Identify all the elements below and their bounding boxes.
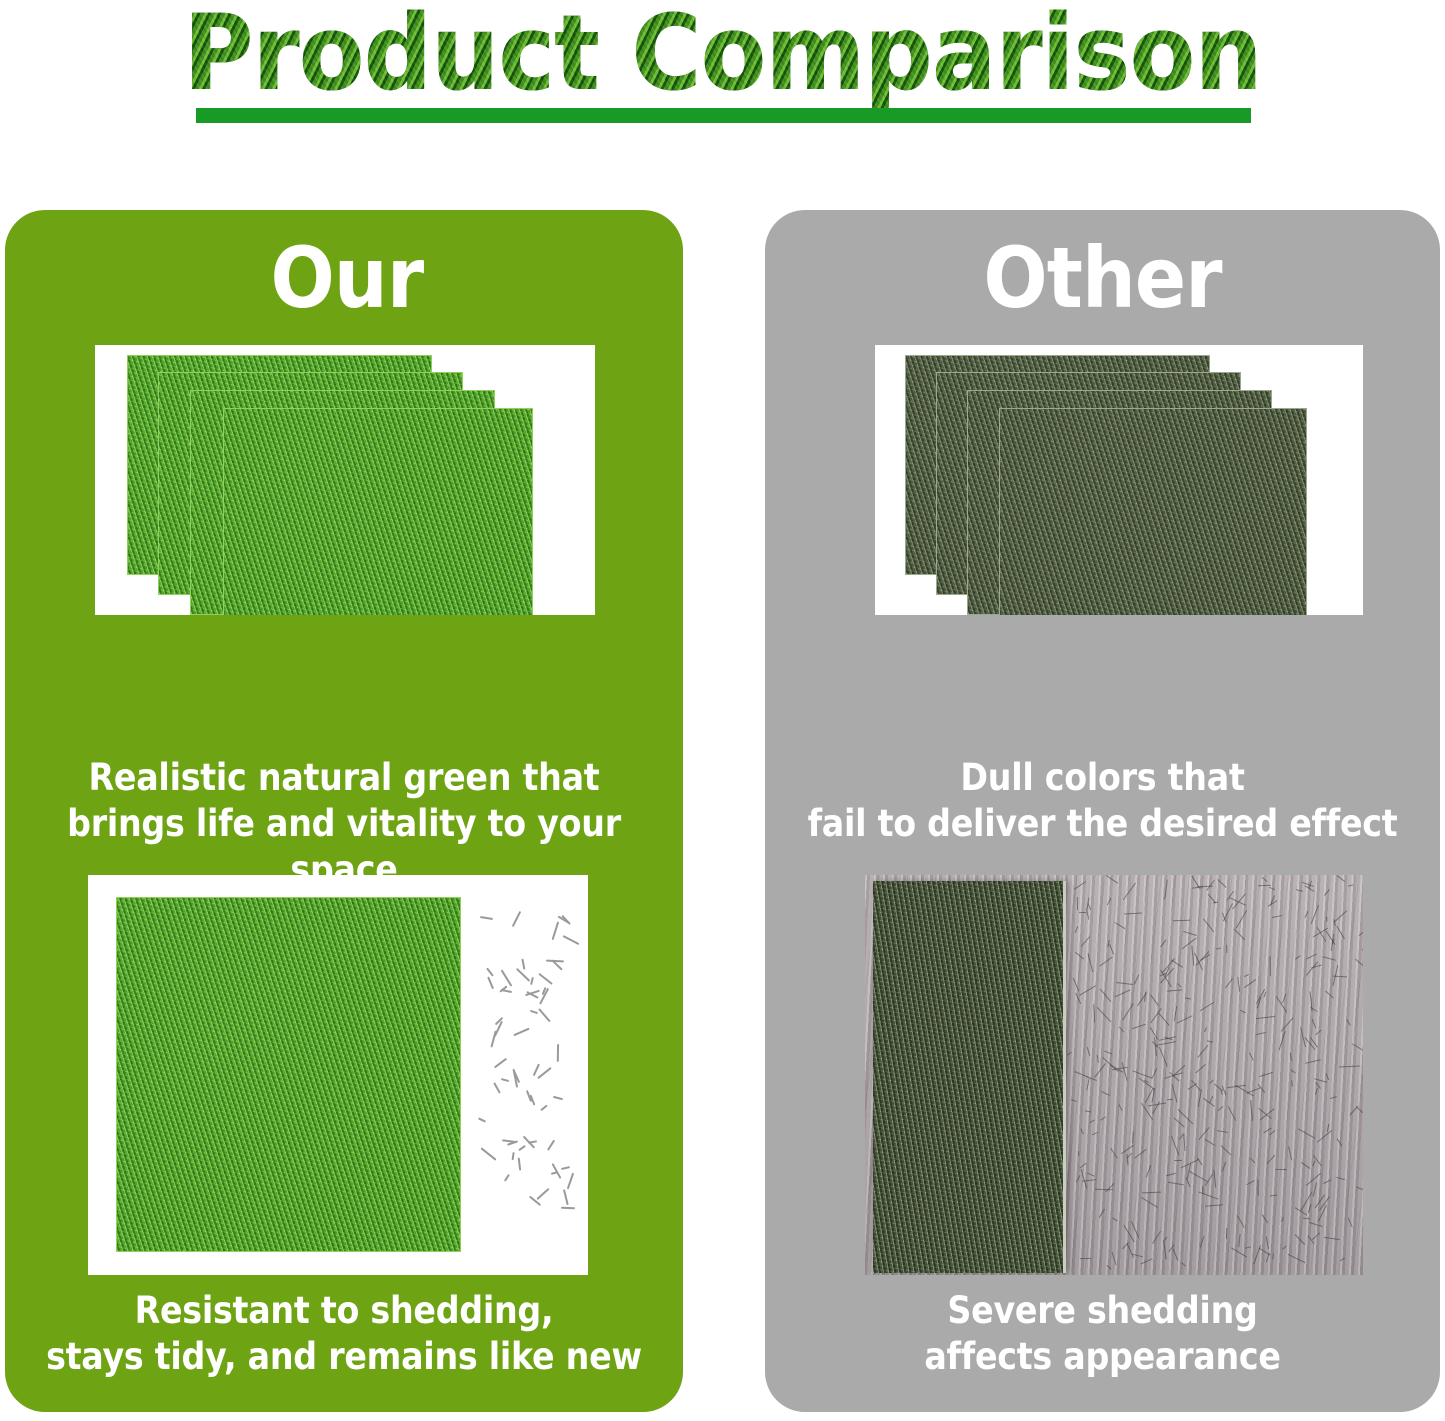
shed-fibre: [1173, 919, 1190, 921]
shed-fibre: [1113, 1217, 1118, 1221]
shed-fibre: [1200, 1236, 1205, 1248]
shed-fibre: [1270, 1194, 1277, 1196]
shed-fibre: [1326, 1073, 1329, 1080]
shed-fibre: [1132, 1070, 1152, 1078]
shed-fibre: [1282, 993, 1286, 1003]
shed-fibre: [1270, 956, 1271, 976]
shed-fibre: [1099, 956, 1113, 966]
shed-fibre: [1244, 974, 1249, 977]
shed-fibre: [1235, 910, 1246, 928]
shed-fibre: [1173, 1248, 1179, 1260]
shed-fibre: [1085, 1111, 1091, 1113]
grass-mat-single: [116, 897, 461, 1252]
shed-fibre: [1105, 1051, 1113, 1055]
shed-fibre: [1348, 1218, 1353, 1228]
shed-fibre: [1076, 1175, 1081, 1183]
shed-fibre: [1269, 887, 1275, 890]
shed-fibre: [1295, 1235, 1305, 1245]
loose-fibre: [538, 1067, 553, 1079]
shed-fibre: [1203, 918, 1215, 932]
shed-fibre: [1140, 1258, 1152, 1264]
loose-fibre: [562, 1189, 568, 1205]
panel-our: Our Realistic natural green that brings …: [5, 210, 683, 1412]
shed-fibre: [1295, 956, 1300, 960]
shed-fibre: [1166, 1172, 1176, 1176]
shed-fibre: [1306, 1173, 1321, 1186]
loose-fibre: [551, 921, 558, 939]
shed-fibre: [1159, 1013, 1170, 1026]
grass-mat-4: [999, 408, 1307, 615]
shed-fibre: [1106, 1183, 1115, 1192]
shed-fibre: [1167, 990, 1182, 992]
shed-fibre: [1228, 1107, 1236, 1122]
loose-fibre: [478, 1117, 486, 1122]
shed-fibre: [1245, 1247, 1251, 1249]
shed-fibre: [1314, 1089, 1317, 1096]
shed-fibre: [1073, 978, 1079, 991]
loose-fibre: [530, 977, 534, 985]
shed-fibre: [1099, 1209, 1105, 1218]
shed-fibre: [1163, 1242, 1167, 1260]
shed-fibre: [1181, 937, 1196, 949]
shed-fibre: [1207, 1040, 1213, 1042]
shed-fibre: [1146, 1166, 1152, 1178]
shed-fibre: [1250, 1157, 1256, 1163]
shed-fibre: [1233, 928, 1244, 939]
shed-fibre: [1356, 1107, 1363, 1114]
shed-fibre: [1094, 1005, 1096, 1023]
shed-fibre: [1289, 1146, 1293, 1160]
shed-fibre: [1119, 1027, 1124, 1033]
loose-fibre: [514, 1027, 530, 1036]
shed-fibre: [1112, 1252, 1117, 1266]
shed-fibre: [1088, 953, 1094, 971]
shed-fibre: [1132, 1131, 1134, 1143]
loose-fibre: [516, 968, 531, 982]
shed-fibre: [1171, 960, 1183, 968]
shed-fibre: [1336, 1138, 1342, 1146]
shed-fibre: [1079, 985, 1096, 996]
shed-fibre: [1276, 996, 1287, 1013]
shed-fibre: [1189, 1171, 1208, 1182]
shed-fibre: [1204, 1027, 1207, 1032]
loose-fibre: [539, 973, 554, 985]
loose-fibre: [486, 967, 494, 976]
shed-fibre: [1095, 1189, 1113, 1190]
shed-fibre: [1339, 1066, 1360, 1068]
shed-fibre: [1114, 922, 1125, 929]
shed-fibre: [1152, 1068, 1158, 1078]
shed-fibre: [1250, 1100, 1253, 1121]
shed-fibre: [1152, 1231, 1161, 1244]
shed-fibre: [1150, 995, 1159, 1006]
shed-fibre: [1075, 952, 1084, 960]
loose-fibre: [481, 1148, 497, 1161]
shed-fibre: [1122, 1002, 1134, 1020]
caption-other-bottom: Severe shedding affects appearance: [799, 1288, 1407, 1380]
shed-fibre: [1226, 1228, 1227, 1239]
shed-fibre: [1266, 1236, 1269, 1249]
shed-fibre: [1127, 1152, 1133, 1158]
shed-fibre: [1087, 1173, 1094, 1177]
shed-fibre: [1218, 1106, 1224, 1111]
shed-fibre: [1244, 979, 1256, 988]
shed-fibre: [1132, 1024, 1145, 1029]
shed-fibre: [1313, 1183, 1317, 1197]
shed-fibre: [1077, 1150, 1079, 1155]
caption-our-top: Realistic natural green that brings life…: [39, 755, 649, 893]
shed-fibre: [1281, 1017, 1294, 1032]
shed-fibre: [1309, 1222, 1323, 1227]
shed-fibre: [1182, 1262, 1187, 1266]
shed-fibre: [1330, 1096, 1337, 1099]
loose-fibre: [540, 1105, 547, 1111]
shed-fibre: [1246, 1180, 1255, 1185]
shed-fibre: [1164, 880, 1168, 900]
shed-fibre: [1106, 1265, 1111, 1270]
shed-fibre: [1080, 1129, 1084, 1135]
shed-fibre: [1185, 998, 1191, 1000]
shed-fibre: [1118, 1104, 1122, 1111]
grass-mat-on-floor: [873, 881, 1066, 1273]
shed-fibre: [1115, 989, 1130, 997]
shed-fibre: [1240, 1009, 1246, 1013]
loose-fibre: [536, 1188, 549, 1200]
shed-fibre: [1110, 1148, 1118, 1159]
shed-fibre: [1340, 1258, 1345, 1261]
shed-fibre: [1262, 877, 1268, 882]
loose-fibre: [552, 1096, 562, 1100]
shed-fibre: [1291, 1081, 1293, 1087]
shed-fibre: [1086, 908, 1090, 919]
shed-fibre: [1259, 1072, 1273, 1077]
shed-fibre: [1303, 1218, 1310, 1220]
image-card-other-mat-stack: [875, 345, 1363, 615]
shed-fibre: [1200, 1001, 1214, 1011]
shed-fibre: [1326, 917, 1327, 923]
shed-fibre: [1222, 1162, 1227, 1172]
shed-fibre: [1080, 1163, 1087, 1169]
shed-fibre: [1123, 1225, 1134, 1243]
shed-fibre: [1168, 1182, 1184, 1186]
shed-fibre: [1195, 1064, 1206, 1074]
loose-fibre: [494, 1082, 502, 1094]
shed-fibre: [1134, 1149, 1147, 1159]
shed-fibre: [1106, 897, 1111, 905]
shed-fibre: [1307, 954, 1318, 960]
shed-fibre: [1183, 931, 1197, 936]
shed-fibre: [1288, 1254, 1306, 1263]
shed-fibre: [1205, 1204, 1223, 1206]
loose-fibre: [529, 1010, 537, 1014]
shed-fibre: [1356, 1187, 1363, 1191]
shed-fibre: [1174, 1006, 1177, 1021]
shed-fibre: [1237, 1215, 1245, 1227]
loose-fibre: [562, 935, 579, 945]
shed-fibre: [1336, 1176, 1345, 1180]
panel-heading-other: Other: [799, 230, 1407, 326]
shed-fibre: [1094, 1063, 1106, 1078]
shed-fibre: [1152, 1101, 1160, 1114]
shed-fibre: [1101, 1091, 1110, 1096]
shed-fibre: [1248, 1052, 1253, 1060]
loose-fibre: [512, 1152, 515, 1160]
shed-fibre: [1106, 875, 1119, 884]
shed-fibre: [1273, 1253, 1275, 1259]
shed-fibre: [1315, 1030, 1321, 1035]
shed-fibre: [1276, 1169, 1287, 1170]
shed-fibre: [1282, 1246, 1286, 1250]
shed-fibre: [1081, 1169, 1087, 1188]
shed-fibre: [1185, 1178, 1190, 1188]
shed-fibre: [1139, 1078, 1155, 1090]
shed-fibre: [1110, 944, 1115, 955]
shed-fibre: [1088, 904, 1091, 910]
grass-mat-4: [223, 408, 533, 615]
shed-fibre: [1323, 1179, 1332, 1184]
shed-fibre: [1205, 1139, 1216, 1146]
shed-fibre: [1355, 959, 1363, 972]
shed-fibre: [1217, 879, 1226, 888]
shed-fibre: [1312, 1161, 1315, 1167]
shed-fibre: [1311, 1233, 1319, 1240]
image-card-other-shedding: [865, 875, 1363, 1275]
shed-fibre: [1216, 948, 1221, 950]
shed-fibre: [1141, 1197, 1158, 1208]
shed-fibre: [1272, 915, 1282, 918]
shed-fibre: [1174, 1160, 1182, 1161]
panel-other: Other Dull colors that fail to deliver t…: [765, 210, 1440, 1412]
title-block: Product Comparison: [0, 0, 1445, 145]
shed-fibre: [1198, 1045, 1209, 1058]
shed-fibre: [1081, 936, 1090, 947]
shed-fibre: [1142, 1192, 1161, 1194]
shed-fibre: [1191, 945, 1194, 965]
shed-fibre: [1097, 1007, 1111, 1022]
shed-fibre: [1257, 1180, 1258, 1196]
loose-fibre: [538, 1008, 550, 1022]
loose-fibre: [547, 1140, 555, 1152]
loose-fibre: [532, 1064, 539, 1076]
shed-fibre: [1077, 897, 1078, 910]
shed-fibre: [1134, 974, 1140, 985]
shed-fibre: [1080, 1258, 1091, 1259]
shed-fibre: [1358, 924, 1363, 935]
loose-fibre: [556, 1044, 558, 1062]
shed-fibre: [1075, 926, 1079, 933]
shed-fibre: [1336, 875, 1344, 882]
shed-fibre: [1262, 1214, 1268, 1222]
shed-fibre: [1231, 1248, 1247, 1258]
shed-fibre: [1290, 1070, 1296, 1075]
shed-fibre: [1308, 1204, 1312, 1213]
shed-fibre: [1324, 1237, 1340, 1240]
loose-fibre: [494, 1058, 507, 1069]
page-title: Product Comparison: [58, 0, 1387, 112]
shed-fibre: [1086, 1047, 1089, 1056]
shed-fibre: [1172, 1084, 1178, 1103]
shed-fibre: [1348, 884, 1353, 886]
loose-fibre: [480, 916, 493, 920]
shed-fibre: [1290, 1052, 1292, 1060]
shed-fibre: [1183, 1134, 1185, 1151]
shed-fibre: [1116, 982, 1133, 985]
shed-fibre: [1124, 913, 1142, 915]
shed-fibre: [1305, 1059, 1321, 1064]
loose-fibre: [504, 1174, 510, 1181]
shed-fibre: [1256, 1031, 1266, 1034]
shed-fibre: [1301, 1162, 1311, 1169]
image-card-our-shedding: [88, 875, 588, 1275]
shed-fibre: [1269, 1130, 1275, 1135]
shed-fibre: [1227, 1085, 1246, 1089]
shed-fibre: [1177, 1015, 1193, 1023]
shed-fibre: [1159, 1046, 1168, 1065]
shed-fibre: [1233, 894, 1247, 910]
shed-fibre: [1225, 978, 1233, 988]
loose-fibre: [567, 1173, 574, 1190]
shed-fibre: [1197, 1158, 1203, 1166]
shed-fibre: [1256, 1015, 1275, 1018]
panel-heading-our: Our: [42, 230, 704, 326]
shed-fibre: [1317, 1130, 1332, 1143]
shed-fibre: [1074, 881, 1086, 889]
grass-mat-stack-vivid: [95, 345, 595, 615]
shed-fibre: [1324, 889, 1330, 896]
shed-fibre: [1123, 883, 1136, 900]
loose-fibre: [517, 1157, 521, 1170]
shed-fibre: [1334, 911, 1347, 923]
shed-fibre: [1322, 956, 1336, 961]
loose-fibre: [519, 1145, 527, 1151]
shed-fibre: [1301, 1193, 1312, 1211]
shed-fibre: [1167, 1099, 1173, 1100]
shed-fibre: [1336, 926, 1345, 939]
caption-other-top: Dull colors that fail to deliver the des…: [799, 755, 1407, 847]
shed-fibre: [1296, 889, 1303, 891]
shed-fibre: [1173, 1117, 1184, 1127]
shed-fibre: [1213, 901, 1218, 903]
shed-fibre: [1100, 988, 1112, 1002]
shed-fibre: [1096, 1055, 1098, 1063]
shed-fibre: [1197, 1090, 1201, 1107]
shed-fibre: [1131, 1221, 1139, 1238]
caption-our-bottom: Resistant to shedding, stays tidy, and r…: [39, 1288, 649, 1380]
loose-fibre: [487, 976, 494, 989]
shed-fibre: [1305, 911, 1309, 918]
shed-fibre: [1311, 905, 1319, 924]
shed-fibre: [1177, 984, 1181, 989]
shed-fibre: [1221, 1145, 1232, 1156]
shed-fibre: [1071, 1099, 1077, 1102]
shed-fibre: [1137, 992, 1147, 1005]
shed-fibre: [1264, 992, 1267, 998]
loose-fibres-few: [478, 915, 578, 1235]
shed-fibre: [1238, 977, 1241, 992]
loose-fibre: [501, 1078, 509, 1082]
title-underline-bar: [196, 108, 1251, 123]
shed-fibre: [1325, 991, 1334, 999]
shed-fibre: [1092, 1132, 1098, 1136]
shed-fibre: [1226, 945, 1227, 953]
shed-fibre: [1305, 962, 1318, 977]
loose-fibre: [551, 1163, 561, 1179]
shed-fibre: [1160, 940, 1166, 947]
shed-fibre: [1217, 1130, 1228, 1133]
shed-fibre: [1100, 1117, 1106, 1121]
shed-fibre: [1281, 1217, 1284, 1222]
loose-fibre: [521, 958, 525, 969]
shed-fibre: [1213, 1170, 1216, 1188]
shed-fibre: [1209, 1095, 1213, 1103]
shed-fibre: [1362, 944, 1363, 951]
loose-fibre: [512, 911, 521, 927]
loose-fibre: [501, 969, 513, 986]
shed-fibre: [1266, 1155, 1275, 1164]
shed-fibre: [1259, 1247, 1270, 1255]
shed-fibre: [1079, 912, 1086, 913]
shed-fibre: [1298, 1128, 1315, 1138]
shed-fibre: [1156, 1042, 1176, 1047]
loose-fibre: [561, 1166, 571, 1170]
shed-fibre: [1278, 1030, 1285, 1050]
shed-fibre: [1067, 1052, 1072, 1056]
loose-fibre: [561, 1207, 575, 1209]
shed-fibre: [1127, 1244, 1134, 1258]
shed-fibre: [1347, 1019, 1352, 1026]
shed-fibre: [1152, 1089, 1156, 1104]
shed-fibre: [1311, 1019, 1316, 1028]
shed-fibre: [1089, 1119, 1094, 1123]
image-card-our-mat-stack: [95, 345, 595, 615]
shed-fibre: [1086, 1079, 1089, 1091]
grass-mat-stack-dull: [875, 345, 1363, 615]
shed-fibre: [1238, 1234, 1240, 1247]
shed-fibre: [1352, 1043, 1363, 1053]
